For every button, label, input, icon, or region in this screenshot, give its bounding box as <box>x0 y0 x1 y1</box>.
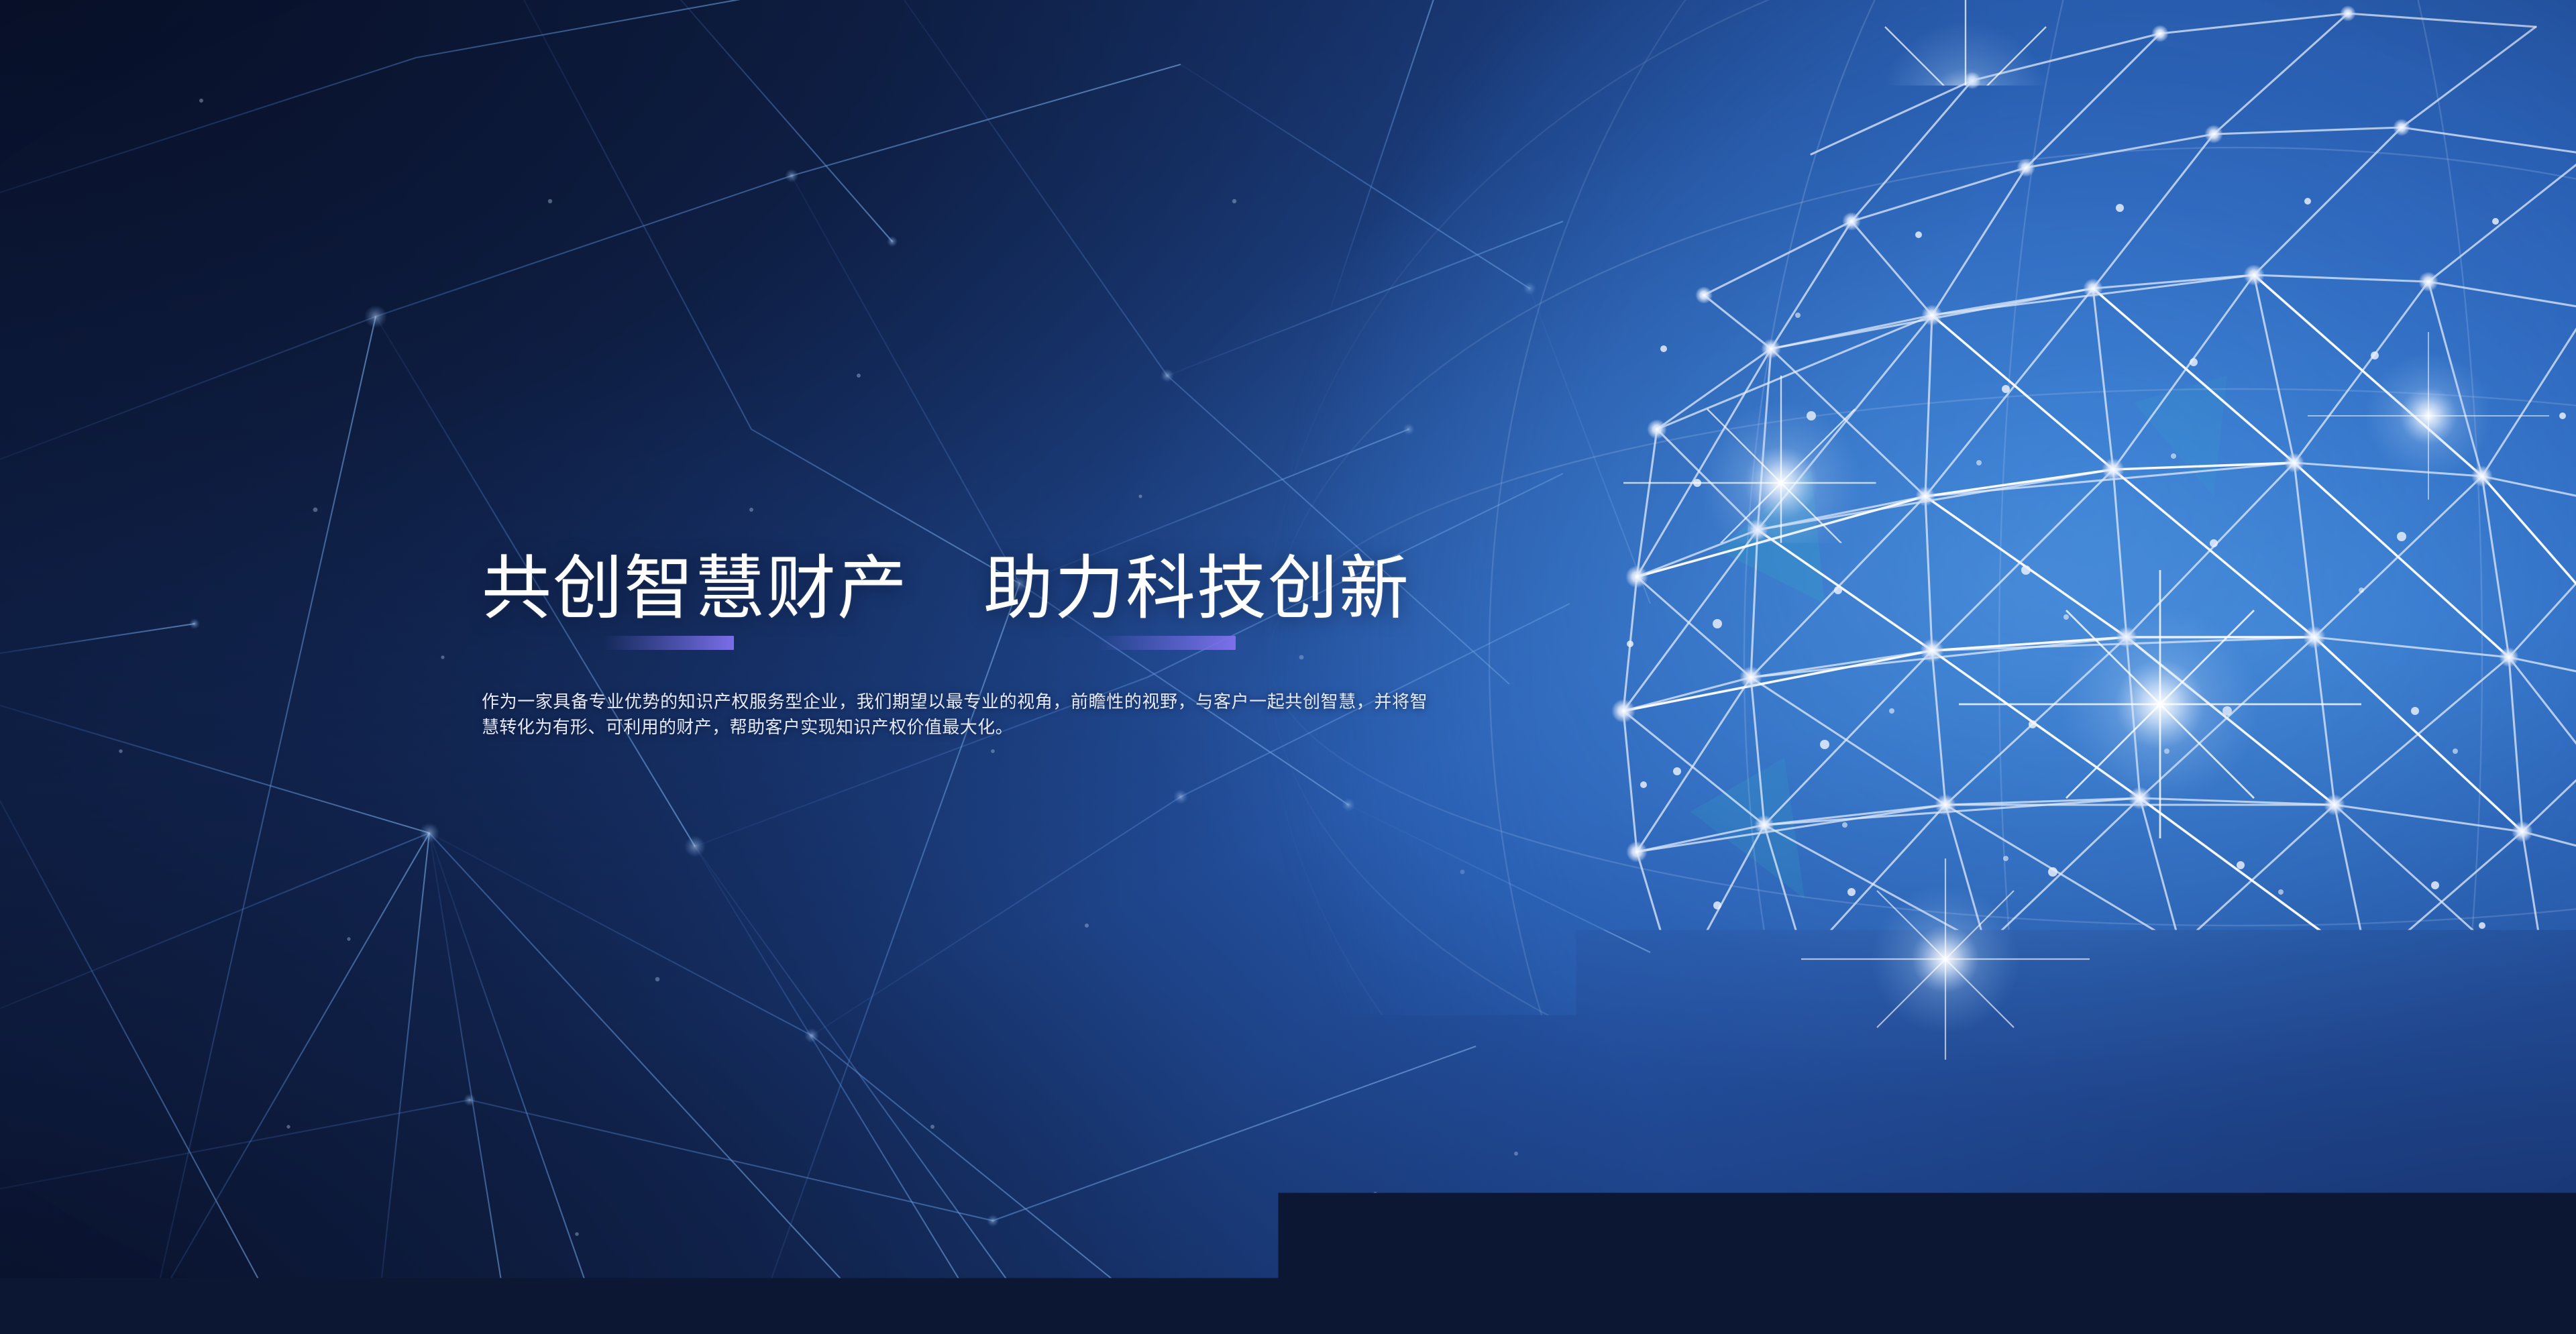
headline-segment-1: 共创智慧财产 <box>482 550 908 650</box>
headline-text-secondary: 助力科技创新 <box>983 550 1410 628</box>
star-glint-group <box>1623 0 2549 1060</box>
hero-banner: 共创智慧财产 助力科技创新 作为一家具备专业优势的知识产权服务型企业，我们期望以… <box>0 0 2576 1334</box>
headline-accent-bar-right <box>1096 636 1236 650</box>
page-title: 共创智慧财产 助力科技创新 <box>482 550 1434 650</box>
hero-description-paragraph: 作为一家具备专业优势的知识产权服务型企业，我们期望以最专业的视角，前瞻性的视野，… <box>482 689 1428 740</box>
headline-accent-bar-left <box>602 636 734 650</box>
headline-text-primary: 共创智慧财产 <box>482 550 908 628</box>
hero-copy-block: 共创智慧财产 助力科技创新 作为一家具备专业优势的知识产权服务型企业，我们期望以… <box>482 550 1434 757</box>
headline-segment-2: 助力科技创新 <box>983 550 1410 650</box>
